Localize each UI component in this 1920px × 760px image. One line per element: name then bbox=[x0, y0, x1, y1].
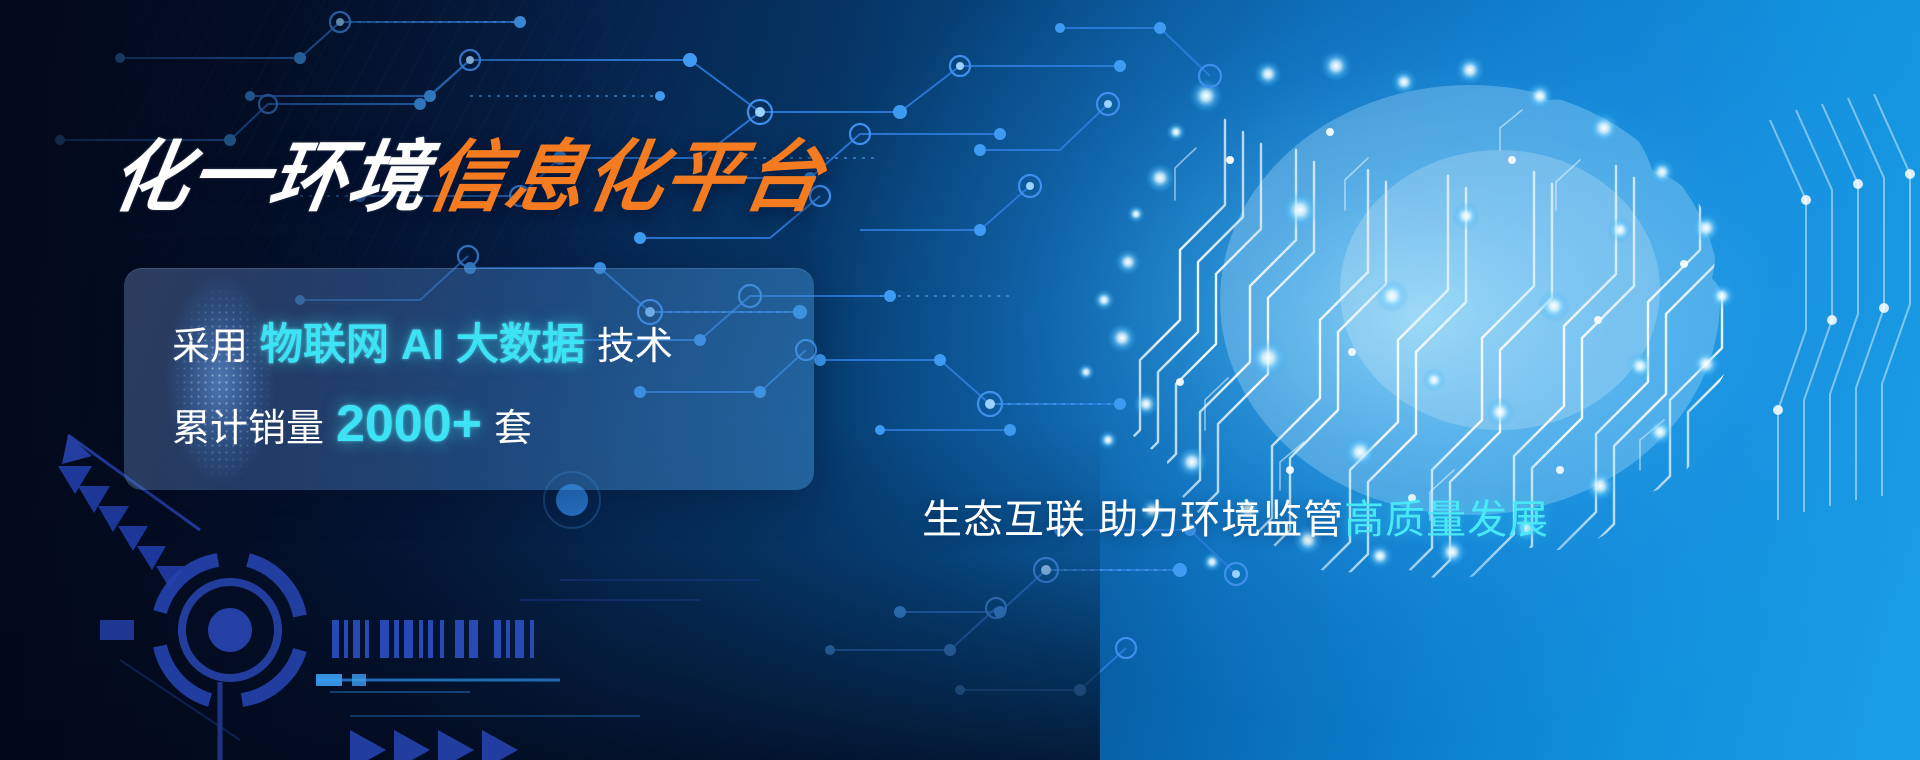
tagline-prefix: 生态互联 助力环境监管 bbox=[922, 498, 1344, 542]
tagline-highlight: 高质量发展 bbox=[1344, 498, 1549, 542]
sales-highlight: 2000+ bbox=[336, 395, 482, 453]
tech-highlight: 物联网 AI 大数据 bbox=[260, 321, 585, 369]
barcode-bars-icon bbox=[332, 620, 534, 658]
radar-target-icon bbox=[160, 560, 300, 700]
tagline: 生态互联 助力环境监管高质量发展 bbox=[922, 487, 1549, 545]
tech-prefix: 采用 bbox=[172, 326, 248, 368]
page-title: 化一环境信息化平台 bbox=[106, 138, 829, 216]
feature-line-technology: 采用 物联网 AI 大数据 技术 bbox=[172, 310, 673, 372]
sales-prefix: 累计销量 bbox=[172, 408, 324, 450]
banner-root: 化一环境信息化平台 采用 物联网 AI 大数据 技术 累计销量 2000+ 套 … bbox=[0, 0, 1920, 760]
page-title-white: 化一环境 bbox=[105, 133, 435, 221]
feature-line-sales: 累计销量 2000+ 套 bbox=[172, 394, 532, 454]
page-title-orange: 信息化平台 bbox=[421, 133, 830, 221]
feature-card: 采用 物联网 AI 大数据 技术 累计销量 2000+ 套 bbox=[124, 268, 814, 490]
tech-suffix: 技术 bbox=[597, 326, 673, 368]
sales-suffix: 套 bbox=[494, 408, 532, 450]
